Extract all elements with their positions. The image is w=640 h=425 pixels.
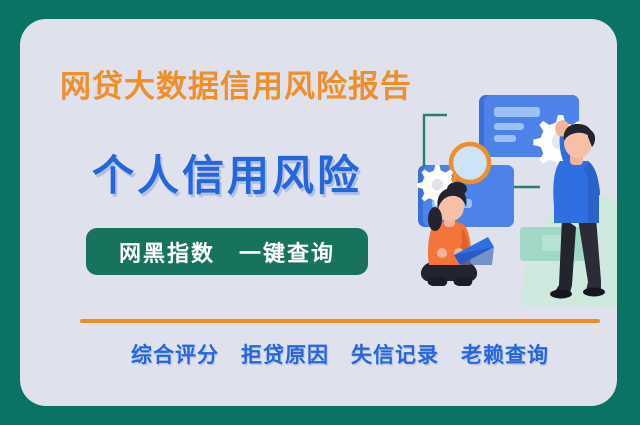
footer-link-reason[interactable]: 拒贷原因 bbox=[241, 339, 329, 369]
footer-link-record[interactable]: 失信记录 bbox=[351, 339, 439, 369]
page-subtitle: 个人信用风险 bbox=[92, 142, 362, 203]
footer-link-row: 综合评分 拒贷原因 失信记录 老赖查询 bbox=[80, 337, 600, 371]
footer-link-score[interactable]: 综合评分 bbox=[131, 339, 219, 369]
orange-divider bbox=[80, 319, 600, 323]
poster-card: 网贷大数据信用风险报告 个人信用风险 网黑指数 一键查询 综合评分 拒贷原因 失… bbox=[20, 19, 617, 406]
footer-link-laolai[interactable]: 老赖查询 bbox=[461, 339, 549, 369]
data-analysis-illustration bbox=[402, 77, 617, 307]
query-cta-button[interactable]: 网黑指数 一键查询 bbox=[86, 228, 368, 275]
page-title: 网贷大数据信用风险报告 bbox=[60, 61, 412, 106]
query-cta-label: 网黑指数 一键查询 bbox=[119, 236, 335, 268]
poster-root: 网贷大数据信用风险报告 个人信用风险 网黑指数 一键查询 综合评分 拒贷原因 失… bbox=[0, 0, 640, 425]
